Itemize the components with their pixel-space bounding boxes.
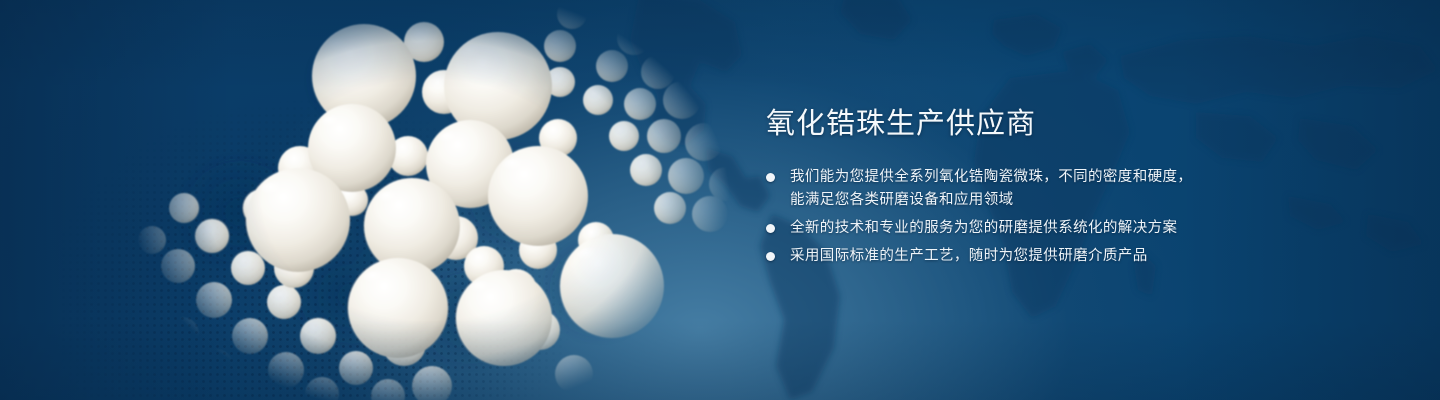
list-item: 我们能为您提供全系列氧化锆陶瓷微珠，不同的密度和硬度， 能满足您各类研磨设备和应… — [764, 166, 1384, 212]
list-item-line: 全新的技术和专业的服务为您的研磨提供系统化的解决方案 — [790, 217, 1384, 240]
feature-list: 我们能为您提供全系列氧化锆陶瓷微珠，不同的密度和硬度， 能满足您各类研磨设备和应… — [764, 166, 1384, 268]
bullet-dot-icon — [766, 224, 775, 233]
list-item: 采用国际标准的生产工艺，随时为您提供研磨介质产品 — [764, 245, 1384, 268]
bullet-dot-icon — [766, 173, 775, 182]
list-item-line: 采用国际标准的生产工艺，随时为您提供研磨介质产品 — [790, 245, 1384, 268]
zirconia-beads-image — [0, 0, 760, 400]
page-title: 氧化锆珠生产供应商 — [766, 104, 1384, 144]
banner-copy: 氧化锆珠生产供应商 我们能为您提供全系列氧化锆陶瓷微珠，不同的密度和硬度， 能满… — [764, 104, 1384, 273]
bullet-dot-icon — [766, 252, 775, 261]
list-item-line: 能满足您各类研磨设备和应用领域 — [790, 189, 1384, 212]
hero-banner: 氧化锆珠生产供应商 我们能为您提供全系列氧化锆陶瓷微珠，不同的密度和硬度， 能满… — [0, 0, 1440, 400]
list-item-line: 我们能为您提供全系列氧化锆陶瓷微珠，不同的密度和硬度， — [790, 166, 1384, 189]
list-item: 全新的技术和专业的服务为您的研磨提供系统化的解决方案 — [764, 217, 1384, 240]
